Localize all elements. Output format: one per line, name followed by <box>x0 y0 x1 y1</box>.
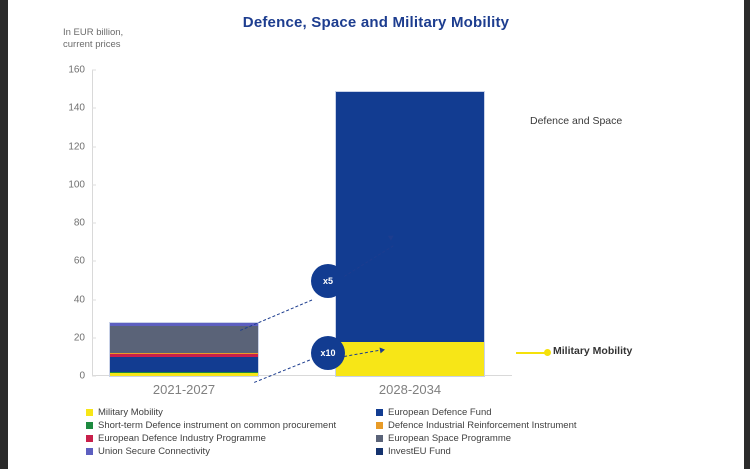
category-label-1: 2021-2027 <box>104 382 264 397</box>
y-tick-mark <box>92 223 96 224</box>
growth-badge-mobility: x10 <box>311 336 345 370</box>
legend-label: Short-term Defence instrument on common … <box>98 420 336 431</box>
bar-segment <box>110 373 258 376</box>
category-label-2: 2028-2034 <box>330 382 490 397</box>
y-tick-label: 160 <box>68 65 85 76</box>
left-gutter <box>0 0 8 469</box>
legend-label: Defence Industrial Reinforcement Instrum… <box>388 420 577 431</box>
bar-2021-2027[interactable] <box>110 323 258 376</box>
y-tick-mark <box>92 337 96 338</box>
chart-legend: Military MobilityEuropean Defence FundSh… <box>86 406 726 458</box>
callout-arrow-mobility <box>380 347 386 354</box>
legend-item[interactable]: European Defence Industry Programme <box>86 432 366 445</box>
y-tick-label: 100 <box>68 179 85 190</box>
y-tick-mark <box>92 376 96 377</box>
slide-canvas: Defence, Space and Military Mobility In … <box>0 0 750 469</box>
y-tick-mark <box>92 108 96 109</box>
legend-label: InvestEU Fund <box>388 446 451 457</box>
legend-item[interactable]: Defence Industrial Reinforcement Instrum… <box>376 419 726 432</box>
y-tick-label: 120 <box>68 141 85 152</box>
legend-item[interactable]: Short-term Defence instrument on common … <box>86 419 366 432</box>
legend-swatch <box>376 409 383 416</box>
right-gutter <box>744 0 750 469</box>
y-tick-label: 0 <box>79 371 85 382</box>
y-tick-mark <box>92 146 96 147</box>
legend-swatch <box>86 435 93 442</box>
legend-item[interactable]: Union Secure Connectivity <box>86 445 366 458</box>
military-mobility-label: Military Mobility <box>553 345 632 357</box>
legend-swatch <box>376 435 383 442</box>
y-tick-label: 20 <box>74 332 85 343</box>
legend-item[interactable]: InvestEU Fund <box>376 445 726 458</box>
y-tick-label: 60 <box>74 256 85 267</box>
legend-swatch <box>86 409 93 416</box>
legend-label: Military Mobility <box>98 407 163 418</box>
bar-segment <box>110 357 258 372</box>
legend-item[interactable]: European Defence Fund <box>376 406 726 419</box>
y-tick-mark <box>92 184 96 185</box>
legend-swatch <box>376 448 383 455</box>
y-tick-mark <box>92 70 96 71</box>
legend-swatch <box>376 422 383 429</box>
y-tick-label: 40 <box>74 294 85 305</box>
y-axis-unit-note: In EUR billion, current prices <box>63 27 123 51</box>
legend-label: European Defence Industry Programme <box>98 433 266 444</box>
legend-swatch <box>86 422 93 429</box>
bar-segment <box>336 92 484 343</box>
mobility-leader-dot <box>544 349 551 356</box>
legend-item[interactable]: Military Mobility <box>86 406 366 419</box>
legend-item[interactable]: European Space Programme <box>376 432 726 445</box>
chart-frame: Defence, Space and Military Mobility In … <box>8 0 744 469</box>
y-tick-label: 140 <box>68 103 85 114</box>
y-tick-label: 80 <box>74 218 85 229</box>
plot-area: 020406080100120140160 <box>92 70 512 376</box>
growth-badge-defence: x5 <box>311 264 345 298</box>
legend-label: European Space Programme <box>388 433 511 444</box>
bar-segment <box>110 326 258 353</box>
bar-2028-2034[interactable] <box>336 92 484 376</box>
legend-label: Union Secure Connectivity <box>98 446 210 457</box>
y-tick-mark <box>92 261 96 262</box>
y-tick-mark <box>92 299 96 300</box>
defence-and-space-label: Defence and Space <box>530 115 622 127</box>
legend-label: European Defence Fund <box>388 407 492 418</box>
bar-segment <box>336 342 484 376</box>
legend-swatch <box>86 448 93 455</box>
